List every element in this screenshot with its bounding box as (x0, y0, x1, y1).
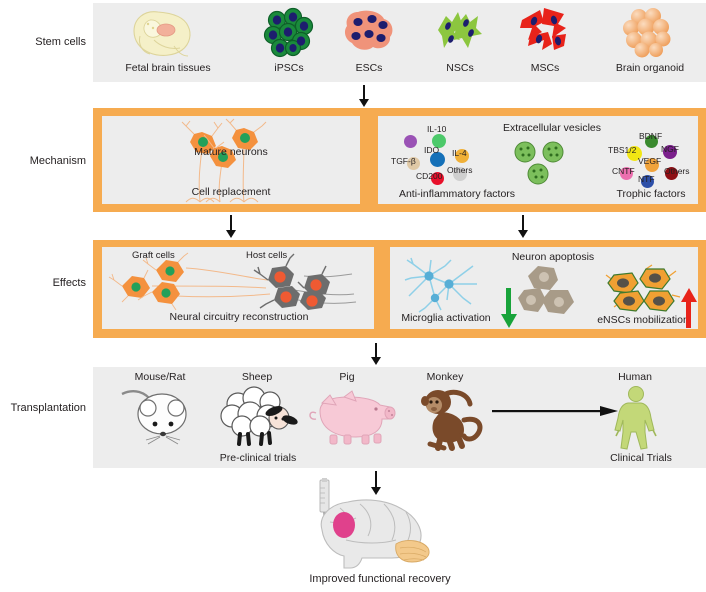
species-label-human: Human (600, 371, 670, 383)
ipsc-colony-icon (263, 8, 315, 58)
factor-label-tbs: TBS1/2 (608, 145, 636, 155)
arrow-monkey-to-human (492, 405, 620, 419)
brain-injection-graphic (300, 478, 450, 570)
microglia-activation-caption: Microglia activation (391, 312, 501, 324)
stem-cell-label-msc: MSCs (505, 62, 585, 74)
stem-cell-item-msc[interactable] (518, 6, 574, 58)
factor-label-tgfb: TGF-β (391, 156, 416, 166)
factor-label-il10: IL-10 (427, 124, 446, 134)
stem-cell-item-nsc[interactable] (434, 10, 486, 56)
stem-cell-label-nsc: NSCs (420, 62, 500, 74)
factor-label-ido: IDO (424, 145, 439, 155)
neural-circuitry-caption: Neural circuitry reconstruction (123, 311, 355, 323)
arrow-stem-to-mechanism-head (359, 99, 369, 107)
pig-graphic[interactable] (306, 391, 396, 445)
cell-replacement-caption: Cell replacement (131, 186, 331, 198)
factor-label-ngf: NGF (661, 144, 679, 154)
microglia-graphic (405, 258, 485, 314)
row-label-transplantation: Transplantation (0, 402, 86, 414)
nsc-cells-icon (434, 10, 486, 56)
stem-cell-label-esc: ESCs (329, 62, 409, 74)
esc-colony-icon (342, 8, 396, 56)
stem-cell-item-esc[interactable] (342, 8, 396, 56)
vesicles-graphic (511, 140, 581, 188)
clinical-trials-caption: Clinical Trials (586, 452, 696, 464)
species-label-sheep: Sheep (222, 371, 292, 383)
ensc-graphic (606, 265, 682, 313)
apoptosis-graphic (516, 264, 582, 318)
factor-label-others-troph: Others (664, 166, 690, 176)
stem-cell-item-ipsc[interactable] (263, 8, 315, 58)
neural-circuitry-graphic (108, 252, 368, 314)
factor-label-cntf: CNTF (612, 166, 635, 176)
row-label-effects: Effects (0, 277, 86, 289)
msc-cells-icon (518, 6, 574, 58)
stem-cell-item-fetal[interactable] (120, 6, 216, 62)
species-label-mouse: Mouse/Rat (110, 371, 210, 383)
row-label-mechanism: Mechanism (0, 155, 86, 167)
stem-cell-label-fetal: Fetal brain tissues (100, 62, 236, 74)
improved-recovery-caption: Improved functional recovery (280, 573, 480, 585)
stem-cell-label-organoid: Brain organoid (597, 62, 703, 74)
arrow-mech-left-head (226, 230, 236, 238)
factor-dot-purple (404, 135, 417, 148)
trophic-factors-caption: Trophic factors (591, 188, 706, 200)
sheep-graphic[interactable] (216, 388, 302, 446)
factor-label-il4: IL-4 (452, 148, 467, 158)
mouse-graphic[interactable] (118, 388, 202, 444)
factor-label-vegf: VEGF (638, 156, 661, 166)
species-label-monkey: Monkey (405, 371, 485, 383)
arrow-effects-to-transplant-head (371, 357, 381, 365)
mature-neurons-label: Mature neurons (161, 146, 301, 158)
stem-cell-label-ipsc: iPSCs (249, 62, 329, 74)
fetus-icon (120, 6, 216, 62)
stem-cell-item-organoid[interactable] (620, 8, 674, 58)
species-label-pig: Pig (322, 371, 372, 383)
preclinical-trials-caption: Pre-clinical trials (178, 452, 338, 464)
row-label-stem-cells: Stem cells (0, 36, 86, 48)
factor-label-others-anti: Others (447, 165, 473, 175)
arrow-mech-right-head (518, 230, 528, 238)
apoptosis-decrease-arrow (501, 288, 517, 328)
anti-inflammatory-caption: Anti-inflammatory factors (381, 188, 533, 200)
factor-label-ntf: NTF (638, 174, 655, 184)
factor-label-bdnf: BDNF (639, 131, 662, 141)
neuron-apoptosis-caption: Neuron apoptosis (498, 251, 608, 263)
organoid-icon (620, 8, 674, 58)
human-graphic[interactable] (608, 386, 664, 452)
ensc-increase-arrow (681, 288, 697, 328)
factor-label-cd200: CD200 (416, 171, 442, 181)
extracellular-vesicles-caption: Extracellular vesicles (487, 122, 617, 134)
